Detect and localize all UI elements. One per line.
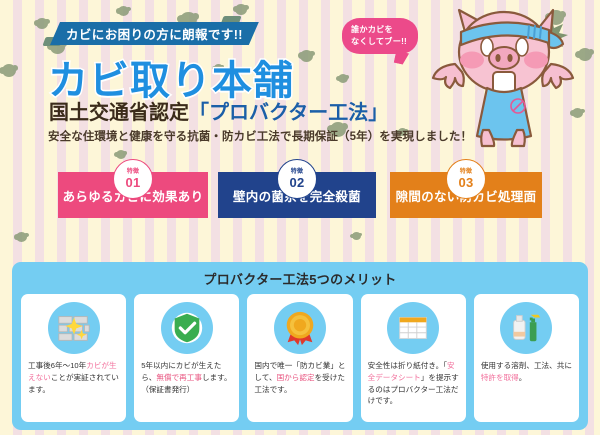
mold-spot-icon: [352, 232, 361, 240]
merit-text-post: 。: [519, 373, 527, 382]
subtitle-certification: 国土交通省認定: [49, 102, 189, 124]
mold-spot-icon: [118, 6, 129, 16]
mold-spot-icon: [235, 4, 247, 15]
merits-title: プロバクター工法5つのメリット: [12, 262, 588, 294]
merit-card[interactable]: 国内で唯一「防カビ業」として、国から認定を受けた工法です。: [247, 294, 352, 422]
merit-card[interactable]: 安全性は折り紙付き。「安全データシート」を提示するのはプロバクター工法だけです。: [361, 294, 466, 422]
subtitle: 国土交通省認定「プロバクター工法」: [49, 96, 388, 125]
gold-medal-icon: [274, 302, 326, 354]
shield-check-icon: [161, 302, 213, 354]
merit-card-text: 国内で唯一「防カビ業」として、国から認定を受けた工法です。: [254, 360, 345, 395]
merit-text-highlight: 国から認定: [277, 373, 315, 382]
merit-card[interactable]: 使用する溶剤、工法、共に特許を取得。: [474, 294, 579, 422]
pig-mascot: [425, 2, 585, 152]
feature-badge-01[interactable]: 特徴 01 あらゆるカビに効果あり: [58, 172, 208, 218]
subtitle-method-name: 「プロバクター工法」: [189, 102, 388, 124]
merit-text-highlight: 無償で再工事: [156, 373, 202, 382]
feature-badges: 特徴 01 あらゆるカビに効果あり 特徴 02 壁内の菌糸を完全殺菌 特徴 03…: [0, 172, 600, 228]
merit-text-pre: 工事後6年～10年: [28, 361, 86, 370]
spray-bottle-icon: [500, 302, 552, 354]
mold-spot-icon: [16, 232, 27, 242]
mold-spot-icon: [338, 74, 348, 83]
feature-badge-02[interactable]: 特徴 02 壁内の菌糸を完全殺菌: [218, 172, 376, 218]
data-sheet-icon: [387, 302, 439, 354]
merit-cards: 工事後6年～10年カビが生えないことが実証されています。 5年以内にカビが生えた…: [12, 294, 588, 422]
announcement-ribbon: カビにお困りの方に朗報です!!: [50, 22, 259, 45]
merit-card-text: 安全性は折り紙付き。「安全データシート」を提示するのはプロバクター工法だけです。: [368, 360, 459, 407]
merit-text-pre: 安全性は折り紙付き。「: [368, 361, 447, 370]
mascot-speech-bubble: 誰かカビを なくしてブー!!: [342, 18, 418, 54]
merit-card-text: 工事後6年～10年カビが生えないことが実証されています。: [28, 360, 119, 395]
merit-text-highlight: 特許を取得: [481, 373, 519, 382]
badge-number-02: 特徴 02: [277, 159, 317, 199]
badge-number: 02: [289, 176, 304, 189]
badge-number: 03: [458, 176, 473, 189]
mold-spot-icon: [2, 64, 16, 77]
merits-panel: プロバクター工法5つのメリット: [12, 262, 588, 430]
lead-description: 安全な住環境と健康を守る抗菌・防カビ工法で長期保証（5年）を実現しました！: [48, 128, 472, 144]
merit-card-text: 5年以内にカビが生えたら、無償で再工事します。（保証書発行）: [141, 360, 232, 395]
mold-spot-icon: [36, 18, 48, 29]
badge-number-01: 特徴 01: [113, 159, 153, 199]
brick-wall-sparkle-icon: [48, 302, 100, 354]
badge-number-03: 特徴 03: [446, 159, 486, 199]
merit-card[interactable]: 工事後6年～10年カビが生えないことが実証されています。: [21, 294, 126, 422]
merit-text-pre: 使用する溶剤、工法、共に: [481, 361, 572, 370]
badge-number: 01: [125, 176, 140, 189]
feature-badge-03[interactable]: 特徴 03 隙間のない防カビ処理面: [390, 172, 542, 218]
bubble-line-1: 誰かカビを: [351, 24, 418, 36]
merit-card[interactable]: 5年以内にカビが生えたら、無償で再工事します。（保証書発行）: [134, 294, 239, 422]
merit-card-text: 使用する溶剤、工法、共に特許を取得。: [481, 360, 572, 384]
landing-page: カビにお困りの方に朗報です!! カビ取り本舗 国土交通省認定「プロバクター工法」…: [0, 0, 600, 435]
mold-spot-icon: [116, 150, 126, 159]
bubble-line-2: なくしてブー!!: [351, 36, 418, 48]
mold-spot-icon: [300, 50, 313, 62]
